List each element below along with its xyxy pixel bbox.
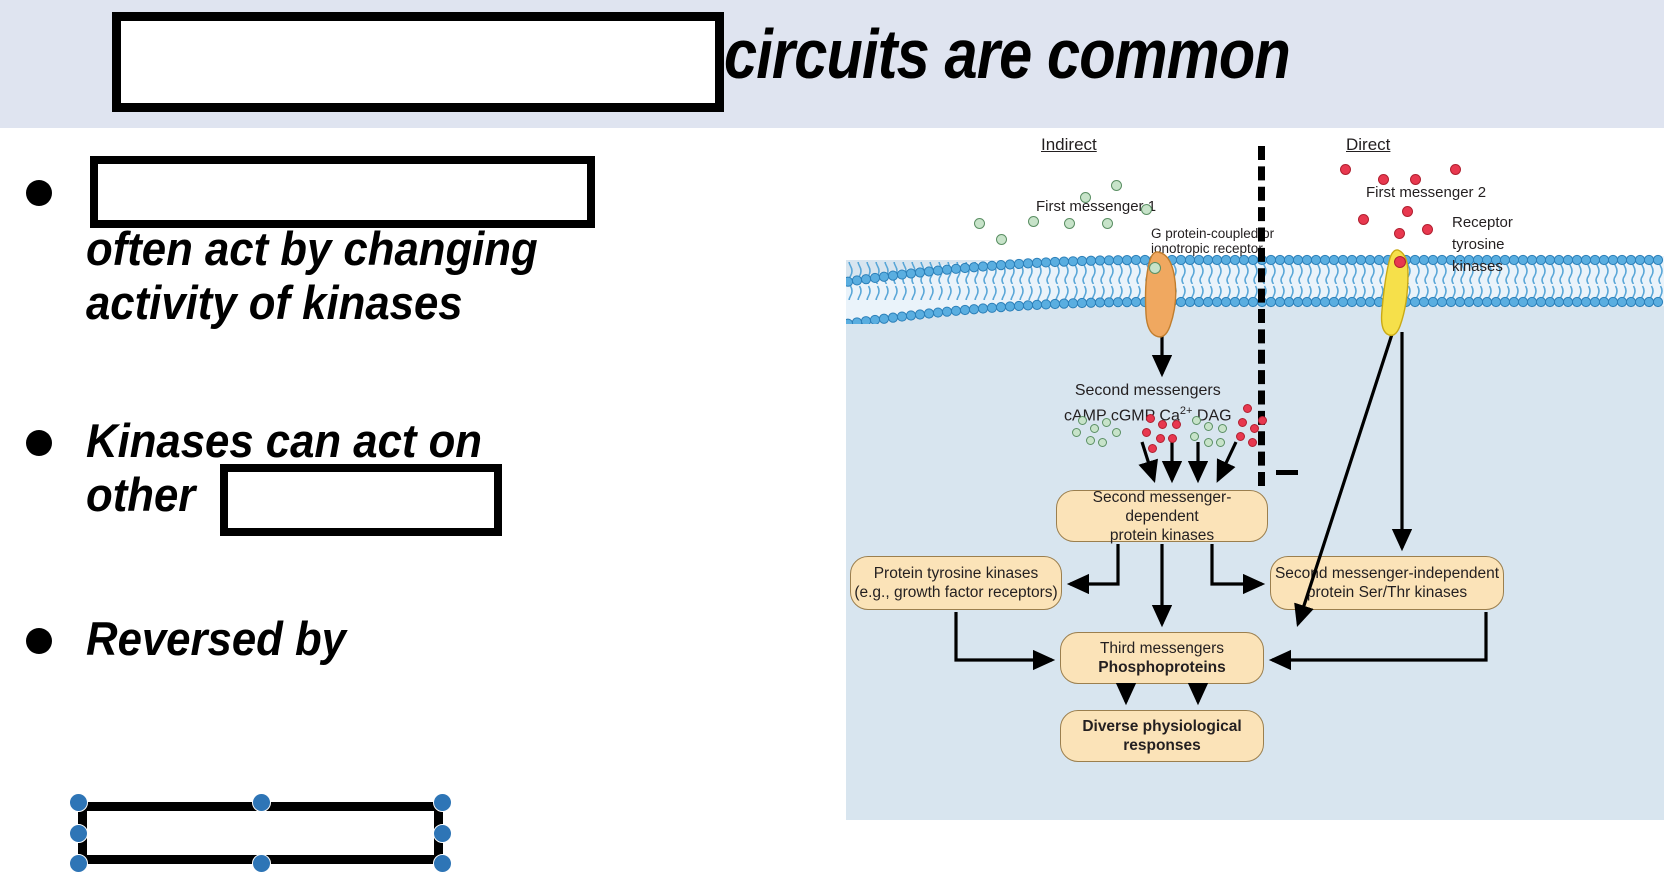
resize-handle-middle-right[interactable]	[433, 824, 452, 843]
plasma-membrane	[846, 244, 1664, 324]
resize-handle-bottom-right[interactable]	[433, 854, 452, 873]
bullet-list: often act by changing activity of kinase…	[0, 130, 840, 820]
resize-handle-top-right[interactable]	[433, 793, 452, 812]
bullet-marker-icon	[26, 430, 52, 456]
diagram-header-direct: Direct	[1346, 136, 1390, 153]
title-redaction-box[interactable]	[112, 12, 724, 112]
signaling-pathway-diagram: Indirect Direct First messenger 1 First …	[846, 132, 1664, 820]
divider-dashed-line	[1258, 146, 1265, 486]
label-gpcr-receptor: G protein-coupled or ionotropic receptor	[1151, 226, 1274, 256]
resize-handle-bottom-center[interactable]	[252, 854, 271, 873]
box-second-messenger-dependent-protein-kinases[interactable]: Second messenger-dependent protein kinas…	[1056, 490, 1268, 542]
box-diverse-physiological-responses[interactable]: Diverse physiological responses	[1060, 710, 1264, 762]
bullet-2-line-1: Kinases can act on	[86, 414, 482, 468]
bullet-3-line-1: Reversed by	[86, 612, 346, 666]
label-first-messenger-2: First messenger 2	[1366, 184, 1486, 201]
bullet-1-redaction-box[interactable]	[90, 156, 595, 228]
bullet-1-line-2: activity of kinases	[86, 276, 538, 330]
resize-handle-bottom-left[interactable]	[69, 854, 88, 873]
resize-handle-top-left[interactable]	[69, 793, 88, 812]
label-first-messenger-1: First messenger 1	[1036, 198, 1156, 215]
box-third-messengers-phosphoproteins[interactable]: Third messengers Phosphoproteins	[1060, 632, 1264, 684]
bullet-1-line-1: often act by changing	[86, 222, 538, 276]
membrane-bilayer-graphic	[846, 244, 1664, 324]
box-protein-tyrosine-kinases[interactable]: Protein tyrosine kinases (e.g., growth f…	[850, 556, 1062, 610]
selected-redaction-shape[interactable]	[78, 802, 443, 864]
bullet-3-text: Reversed by	[86, 612, 346, 666]
diagram-header-indirect: Indirect	[1041, 136, 1097, 153]
bullet-2-redaction-box[interactable]	[220, 464, 502, 536]
slide-title-band: circuits are common	[0, 0, 1664, 130]
slide-canvas: circuits are common often act by changin…	[0, 0, 1664, 820]
resize-handle-middle-left[interactable]	[69, 824, 88, 843]
bullet-marker-icon	[26, 180, 52, 206]
page-title: circuits are common	[724, 14, 1290, 94]
label-receptor-tyrosine-kinases: Receptor tyrosine kinases	[1452, 212, 1513, 278]
box-second-messenger-independent-kinases[interactable]: Second messenger-independent protein Ser…	[1270, 556, 1504, 610]
bullet-marker-icon	[26, 628, 52, 654]
resize-handle-top-center[interactable]	[252, 793, 271, 812]
